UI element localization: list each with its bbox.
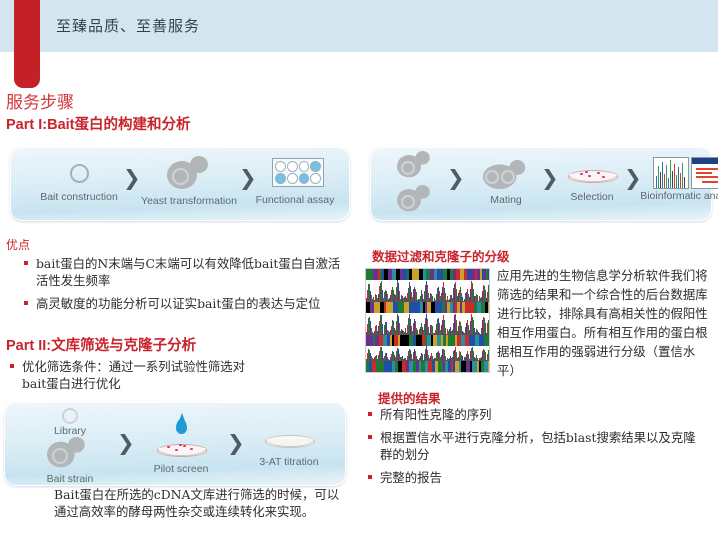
seq-trace [366, 313, 489, 335]
flow3-library-label: Library [19, 425, 121, 437]
flow-panel-library-screen: Library Bait strain ❯ Pilot screen ❯ 3 [4, 402, 346, 486]
part2-title: Part II:文库筛选与克隆子分析 [6, 334, 196, 355]
flow1-step-bait-construction[interactable]: Bait construction [27, 162, 131, 203]
plasmid-icon [501, 170, 515, 184]
plasmid-icon [52, 448, 68, 464]
flow3-caption: Bait蛋白在所选的cDNA文库进行筛选的时候，可以通过高效率的酵母两性杂交或连… [54, 486, 342, 520]
seq-trace [366, 280, 489, 302]
chromatogram-icon [653, 157, 689, 189]
flow-panel-screening: ❯ Mating ❯ Selection ❯ [370, 147, 712, 221]
plasmid-icon [62, 408, 78, 424]
plasmid-icon [401, 195, 415, 209]
flow-panel-bait: Bait construction ❯ Yeast transformation… [10, 147, 350, 221]
plasmid-icon [485, 170, 499, 184]
results-title: 提供的结果 [378, 388, 441, 407]
flow3-step-label: 3-AT titration [239, 456, 339, 468]
advantages-title: 优点 [6, 236, 30, 253]
flow2-step-label: Bioinformatic analysis [633, 190, 718, 202]
plasmid-icon [172, 168, 189, 185]
flow1-step-yeast-transformation[interactable]: Yeast transformation [133, 156, 245, 207]
flow1-step-label: Functional assay [247, 194, 343, 206]
flow3-step-label: Pilot screen [129, 463, 233, 475]
flow2-step-label: Mating [461, 194, 551, 206]
page-title: 服务步骤 [6, 88, 74, 113]
flow3-step-3at-titration[interactable]: 3-AT titration [239, 433, 339, 468]
flow1-step-label: Yeast transformation [133, 195, 245, 207]
seq-band [366, 361, 489, 372]
list-item: 完整的报告 [366, 469, 696, 486]
list-item: 所有阳性克隆的序列 [366, 406, 696, 423]
flow1-step-functional-assay[interactable]: Functional assay [247, 158, 343, 206]
header-red-accent-bar [14, 0, 40, 88]
plasmid-icon [70, 164, 89, 183]
sequencing-chromatogram-image [365, 268, 490, 373]
seq-band [366, 335, 489, 346]
seq-trace [366, 346, 489, 361]
empty-petri-icon [265, 433, 313, 447]
report-icon [691, 157, 718, 189]
part1-title: Part I:Bait蛋白的构建和分析 [6, 113, 191, 134]
flow3-step-bait-strain[interactable]: Library Bait strain [19, 407, 121, 485]
petri-dish-icon [157, 442, 205, 456]
flow2-step-label: Selection [553, 191, 631, 203]
list-item: 优化筛选条件：通过一系列试验性筛选对bait蛋白进行优化 [8, 358, 258, 392]
flow1-step-label: Bait construction [27, 191, 131, 203]
flow3-step-label: Bait strain [19, 473, 121, 485]
flow2-step-selection[interactable]: Selection [553, 168, 631, 203]
list-item: bait蛋白的N末端与C末端可以有效降低bait蛋白自激活活性发生频率 [22, 255, 352, 289]
advantages-list: bait蛋白的N末端与C末端可以有效降低bait蛋白自激活活性发生频率 高灵敏度… [22, 255, 352, 318]
flow2-step-bioinformatic-analysis[interactable]: Bioinformatic analysis [633, 157, 718, 202]
droplet-icon [176, 419, 187, 434]
header-title: 至臻品质、至善服务 [56, 15, 200, 36]
seq-band [366, 269, 489, 280]
part2-note-list: 优化筛选条件：通过一系列试验性筛选对bait蛋白进行优化 [8, 358, 258, 398]
flow3-step-pilot-screen[interactable]: Pilot screen [129, 417, 233, 475]
seq-band [366, 302, 489, 313]
data-filter-title: 数据过滤和克隆子的分级 [372, 246, 510, 265]
list-item: 根据置信水平进行克隆分析，包括blast搜索结果以及克隆群的划分 [366, 429, 696, 463]
data-filter-body: 应用先进的生物信息学分析软件我们将筛选的结果和一个综合性的后台数据库进行比较，排… [497, 266, 713, 380]
microplate-icon [272, 158, 324, 187]
results-list: 所有阳性克隆的序列 根据置信水平进行克隆分析，包括blast搜索结果以及克隆群的… [366, 406, 696, 492]
flow2-step-mating[interactable]: Mating [461, 162, 551, 206]
plasmid-icon [401, 161, 415, 175]
header-divider [0, 52, 718, 54]
petri-dish-icon [568, 168, 616, 182]
list-item: 高灵敏度的功能分析可以证实bait蛋白的表达与定位 [22, 295, 352, 312]
